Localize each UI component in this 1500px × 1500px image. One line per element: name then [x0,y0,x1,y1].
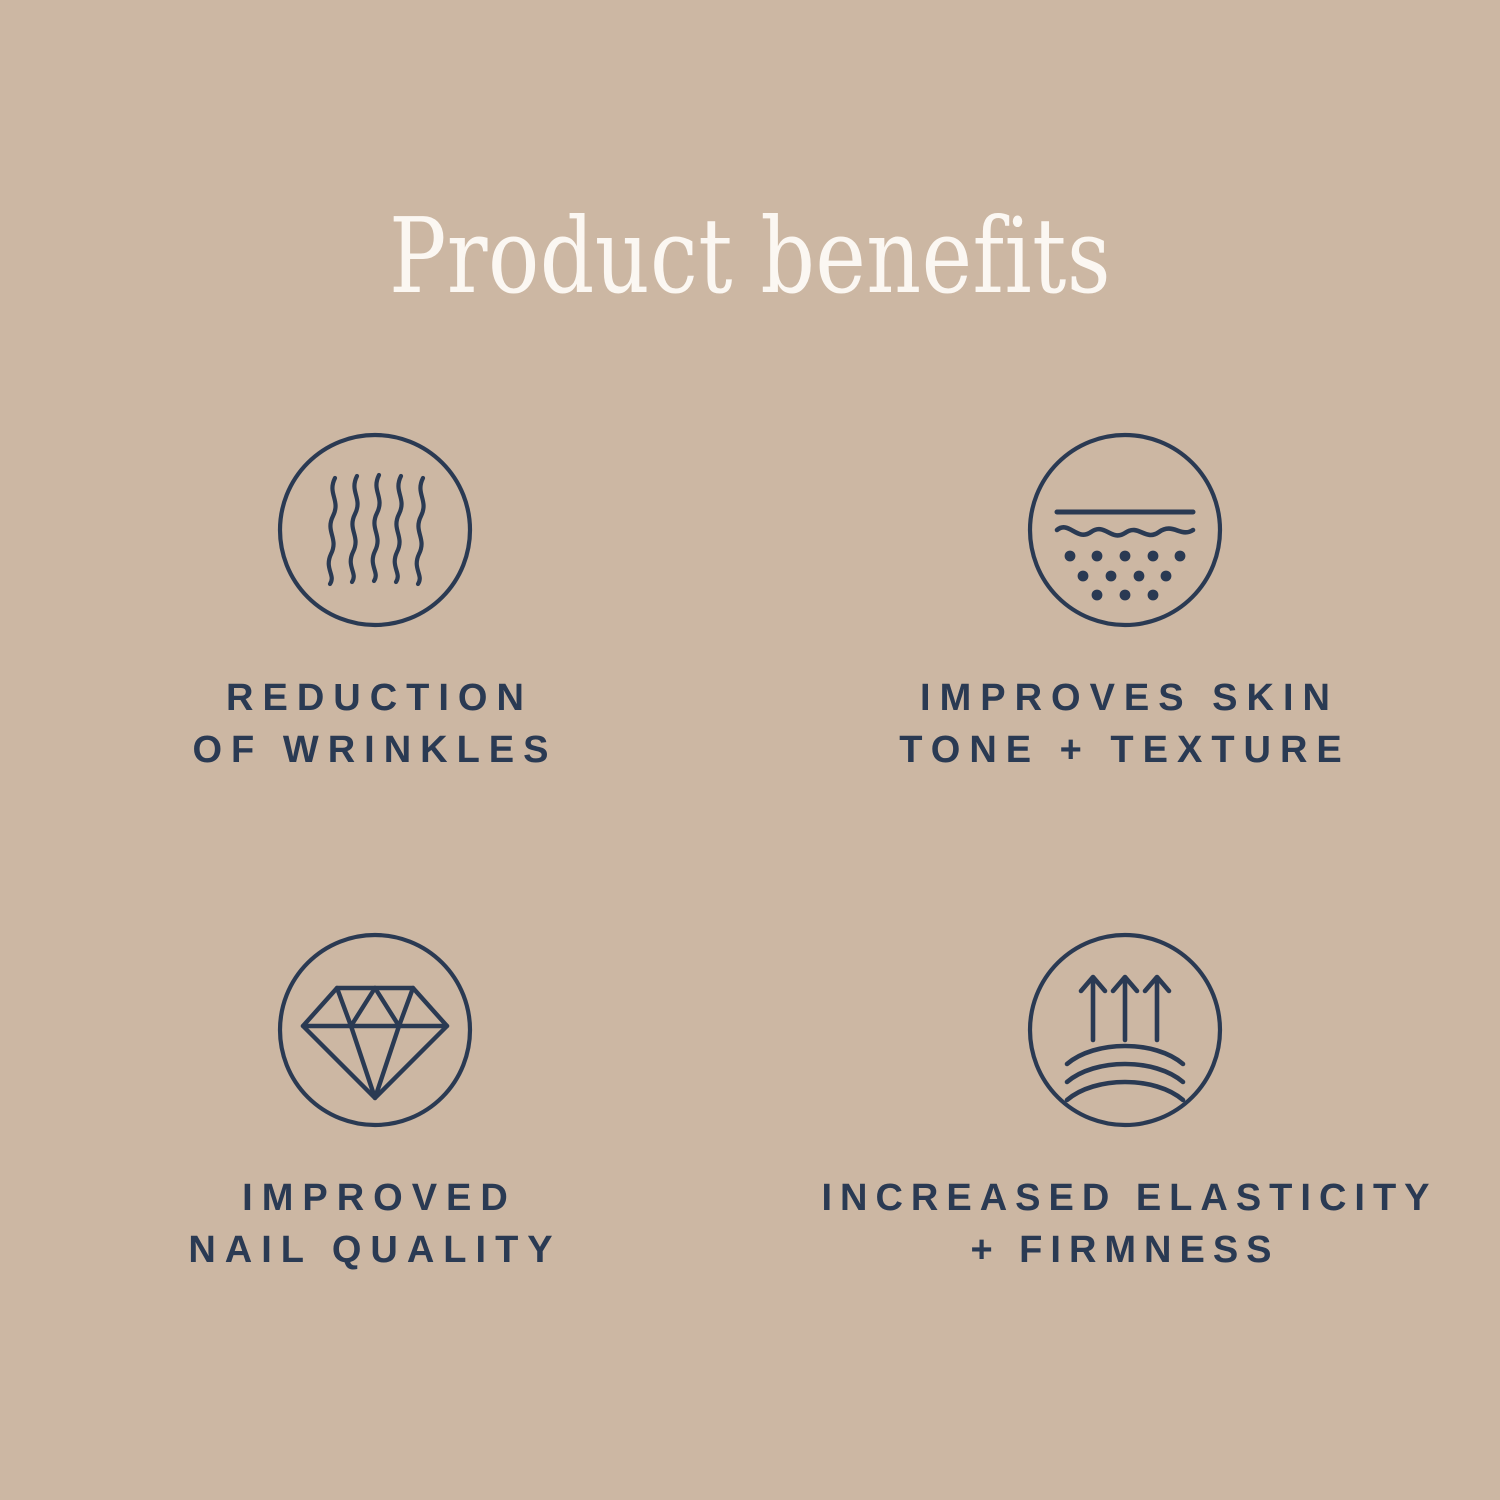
benefit-item-improves-skin-tone-texture: IMPROVES SKIN TONE + TEXTURE [750,430,1500,930]
diamond-icon [275,930,475,1130]
page-title: Product benefits [135,196,1365,316]
benefit-item-reduction-of-wrinkles: REDUCTION OF WRINKLES [0,430,750,930]
benefit-item-increased-elasticity-firmness: INCREASED ELASTICITY + FIRMNESS [750,930,1500,1430]
benefit-label: IMPROVED NAIL QUALITY [188,1172,561,1276]
wrinkle-waves-icon [275,430,475,630]
skin-texture-dots-icon [1025,430,1225,630]
benefit-label: INCREASED ELASTICITY + FIRMNESS [812,1172,1437,1276]
benefit-item-improved-nail-quality: IMPROVED NAIL QUALITY [0,930,750,1430]
benefit-label: IMPROVES SKIN TONE + TEXTURE [899,672,1351,776]
benefits-grid: REDUCTION OF WRINKLES [0,430,1500,1430]
benefit-label: REDUCTION OF WRINKLES [193,672,558,776]
lifting-arrows-icon [1025,930,1225,1130]
product-benefits-panel: Product benefits REDUCTION OF WRINKLES [0,0,1500,1500]
